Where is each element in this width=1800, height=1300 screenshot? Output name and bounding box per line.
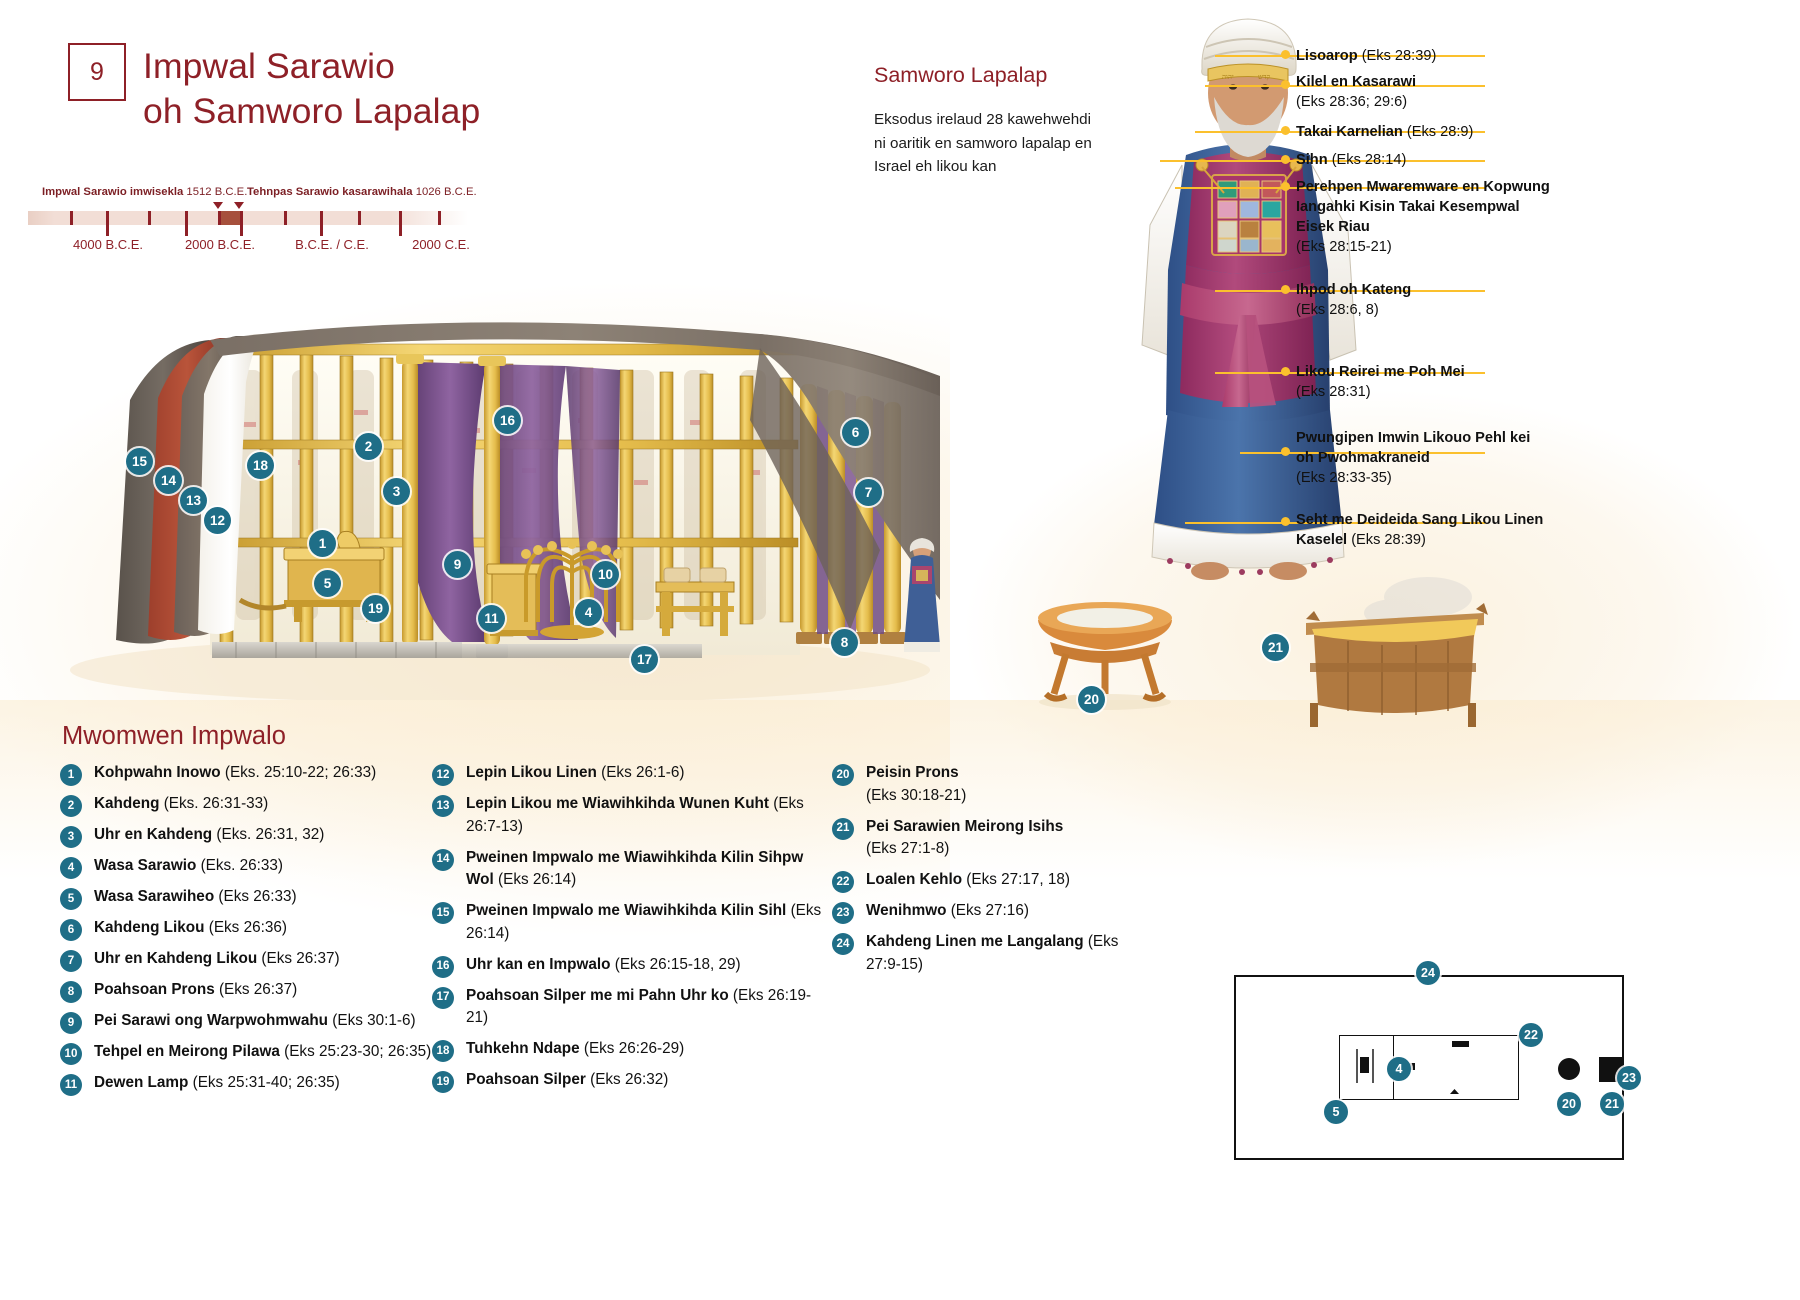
legend-badge: 8 bbox=[60, 981, 82, 1003]
legend-name: Uhr en Kahdeng bbox=[94, 826, 212, 843]
legend-badge: 17 bbox=[432, 987, 454, 1009]
legend-name: Wasa Sarawio bbox=[94, 857, 196, 874]
callout-name: Pwungipen Imwin Likouo Pehl kei oh Pwohm… bbox=[1296, 430, 1530, 466]
legend-badge: 22 bbox=[832, 871, 854, 893]
legend-badge: 3 bbox=[60, 826, 82, 848]
list-item: 1Kohpwahn Inowo (Eks. 25:10-22; 26:33) bbox=[60, 762, 450, 785]
legend-ref: (Eks 25:31-40; 26:35) bbox=[193, 1074, 340, 1091]
list-item: 20Peisin Prons(Eks 30:18-21) bbox=[832, 762, 1132, 807]
timeline-scale-label: 2000 C.E. bbox=[412, 237, 470, 252]
callout-dot bbox=[1281, 155, 1290, 164]
list-item: 12Lepin Likou Linen (Eks 26:1-6) bbox=[432, 762, 832, 785]
timeline-tick-major bbox=[399, 211, 402, 236]
list-item: 23Wenihmwo (Eks 27:16) bbox=[832, 900, 1132, 923]
list-item: 11Dewen Lamp (Eks 25:31-40; 26:35) bbox=[60, 1072, 450, 1095]
callout-name: Takai Karnelian bbox=[1296, 124, 1403, 140]
legend-name: Wenihmwo bbox=[866, 902, 946, 919]
timeline-event-2-year: 1026 B.C.E. bbox=[416, 186, 477, 198]
legend-ref: (Eks. 26:33) bbox=[201, 857, 283, 874]
timeline-scale-label: B.C.E. / C.E. bbox=[295, 237, 369, 252]
legend-name: Pei Sarawien Meirong Isihs bbox=[866, 818, 1063, 835]
marker-1[interactable]: 1 bbox=[309, 530, 336, 557]
legend-column-3: 20Peisin Prons(Eks 30:18-21) 21Pei Saraw… bbox=[832, 762, 1132, 985]
floor-plan-marker-20[interactable]: 20 bbox=[1557, 1092, 1581, 1116]
floor-plan-marker-4[interactable]: 4 bbox=[1387, 1057, 1411, 1081]
legend-badge: 24 bbox=[832, 933, 854, 955]
floor-plan-showbread-table-icon bbox=[1452, 1041, 1469, 1047]
list-item: 5Wasa Sarawiheo (Eks 26:33) bbox=[60, 886, 450, 909]
list-item: 18Tuhkehn Ndape (Eks 26:26-29) bbox=[432, 1038, 832, 1061]
svg-text:קדש: קדש bbox=[1258, 73, 1270, 81]
marker-7[interactable]: 7 bbox=[855, 479, 882, 506]
floor-plan-ark-pole-icon bbox=[1356, 1049, 1358, 1083]
legend-badge: 20 bbox=[832, 764, 854, 786]
legend-ref: (Eks. 26:31-33) bbox=[164, 795, 269, 812]
marker-2[interactable]: 2 bbox=[355, 433, 382, 460]
timeline-tick bbox=[284, 211, 287, 225]
legend-badge: 10 bbox=[60, 1043, 82, 1065]
callout-dot bbox=[1281, 517, 1290, 526]
timeline-tick bbox=[148, 211, 151, 225]
callout-name: Kilel en Kasarawi bbox=[1296, 74, 1416, 90]
list-item: 2Kahdeng (Eks. 26:31-33) bbox=[60, 793, 450, 816]
legend-ref: (Eks 27:1-8) bbox=[866, 840, 949, 857]
legend-ref: (Eks 26:33) bbox=[218, 888, 296, 905]
timeline-scale-label: 4000 B.C.E. bbox=[73, 237, 143, 252]
callout-seht-me-deideida: Seht me Deideida Sang Likou Linen Kasele… bbox=[1296, 510, 1546, 550]
legend-ref: (Eks 26:14) bbox=[498, 871, 576, 888]
floor-plan-marker-22[interactable]: 22 bbox=[1519, 1023, 1543, 1047]
callout-dot bbox=[1281, 126, 1290, 135]
timeline-marker-arrow-2-icon bbox=[234, 202, 244, 209]
legend-ref: (Eks 26:26-29) bbox=[584, 1040, 684, 1057]
marker-11[interactable]: 11 bbox=[478, 605, 505, 632]
timeline-tick-major bbox=[106, 211, 109, 236]
callout-ref: (Eks 28:39) bbox=[1362, 48, 1437, 64]
marker-19[interactable]: 19 bbox=[362, 595, 389, 622]
legend-name: Tehpel en Meirong Pilawa bbox=[94, 1043, 280, 1060]
timeline-tick bbox=[358, 211, 361, 225]
legend-badge: 19 bbox=[432, 1071, 454, 1093]
legend-badge: 2 bbox=[60, 795, 82, 817]
marker-10[interactable]: 10 bbox=[592, 561, 619, 588]
callout-ref: (Eks 28:33-35) bbox=[1296, 470, 1392, 486]
svg-text:יהוה: יהוה bbox=[1222, 73, 1234, 81]
legend-ref: (Eks 30:18-21) bbox=[866, 787, 966, 804]
legend-badge: 1 bbox=[60, 764, 82, 786]
timeline-marker-arrow-1-icon bbox=[213, 202, 223, 209]
legend-badge: 15 bbox=[432, 902, 454, 924]
legend-badge: 18 bbox=[432, 1040, 454, 1062]
legend-badge: 16 bbox=[432, 956, 454, 978]
callout-takai-karnelian: Takai Karnelian (Eks 28:9) bbox=[1296, 122, 1546, 142]
legend-name: Uhr en Kahdeng Likou bbox=[94, 950, 257, 967]
timeline-tick-major bbox=[240, 211, 243, 236]
legend-ref: (Eks 26:15-18, 29) bbox=[615, 956, 741, 973]
marker-8[interactable]: 8 bbox=[831, 629, 858, 656]
callout-lisoarop: Lisoarop (Eks 28:39) bbox=[1296, 46, 1546, 66]
marker-21[interactable]: 21 bbox=[1262, 634, 1289, 661]
copper-basin-illustration bbox=[1020, 590, 1190, 710]
list-item: 24Kahdeng Linen me Langalang (Eks 27:9-1… bbox=[832, 931, 1132, 976]
legend-badge: 12 bbox=[432, 764, 454, 786]
callout-dot bbox=[1281, 447, 1290, 456]
legend-ref: (Eks 26:37) bbox=[261, 950, 339, 967]
legend-badge: 11 bbox=[60, 1074, 82, 1096]
marker-15[interactable]: 15 bbox=[126, 448, 153, 475]
priest-panel-description: Eksodus irelaud 28 kawehwehdi ni oaritik… bbox=[874, 108, 1106, 179]
floor-plan-diagram: 24 22 23 4 5 20 21 bbox=[1234, 975, 1624, 1160]
list-item: 14Pweinen Impwalo me Wiawihkihda Kilin S… bbox=[432, 847, 832, 892]
timeline-tick bbox=[218, 211, 221, 225]
legend-ref: (Eks 25:23-30; 26:35) bbox=[284, 1043, 431, 1060]
legend-badge: 13 bbox=[432, 795, 454, 817]
marker-20[interactable]: 20 bbox=[1078, 686, 1105, 713]
floor-plan-marker-24[interactable]: 24 bbox=[1416, 961, 1440, 985]
legend-name: Pei Sarawi ong Warpwohmwahu bbox=[94, 1012, 328, 1029]
legend-name: Lepin Likou me Wiawihkihda Wunen Kuht bbox=[466, 795, 769, 812]
marker-14[interactable]: 14 bbox=[155, 467, 182, 494]
callout-ref: (Eks 28:15-21) bbox=[1296, 239, 1392, 255]
legend-ref: (Eks 26:36) bbox=[209, 919, 287, 936]
floor-plan-marker-5[interactable]: 5 bbox=[1324, 1100, 1348, 1124]
legend-name: Uhr kan en Impwalo bbox=[466, 956, 611, 973]
legend-name: Kohpwahn Inowo bbox=[94, 764, 221, 781]
list-item: 13Lepin Likou me Wiawihkihda Wunen Kuht … bbox=[432, 793, 832, 838]
callout-name: Likou Reirei me Poh Mei bbox=[1296, 364, 1465, 380]
marker-13[interactable]: 13 bbox=[180, 487, 207, 514]
timeline-highlight-band bbox=[218, 211, 240, 225]
floor-plan-basin-icon bbox=[1558, 1058, 1580, 1080]
callout-ref: (Eks 28:31) bbox=[1296, 384, 1371, 400]
page-canvas: 9 Impwal Sarawio oh Samworo Lapalap Impw… bbox=[0, 0, 1800, 1300]
list-item: 7Uhr en Kahdeng Likou (Eks 26:37) bbox=[60, 948, 450, 971]
legend-ref: (Eks 30:1-6) bbox=[332, 1012, 415, 1029]
marker-17[interactable]: 17 bbox=[631, 646, 658, 673]
page-title-line-1: Impwal Sarawio bbox=[143, 44, 783, 89]
callout-name: Perehpen Mwaremware en Kopwung Iangahki … bbox=[1296, 179, 1550, 235]
legend-badge: 21 bbox=[832, 818, 854, 840]
marker-6[interactable]: 6 bbox=[842, 419, 869, 446]
marker-3[interactable]: 3 bbox=[383, 478, 410, 505]
list-item: 3Uhr en Kahdeng (Eks. 26:31, 32) bbox=[60, 824, 450, 847]
legend-ref: (Eks 27:17, 18) bbox=[966, 871, 1070, 888]
timeline-bar bbox=[28, 211, 468, 225]
list-item: 17Poahsoan Silper me mi Pahn Uhr ko (Eks… bbox=[432, 985, 832, 1030]
legend-column-2: 12Lepin Likou Linen (Eks 26:1-6) 13Lepin… bbox=[432, 762, 832, 1100]
timeline-event-1-year: 1512 B.C.E. bbox=[186, 186, 247, 198]
page-title: Impwal Sarawio oh Samworo Lapalap bbox=[143, 44, 783, 134]
callout-sihn: Sihn (Eks 28:14) bbox=[1296, 150, 1546, 170]
legend-badge: 5 bbox=[60, 888, 82, 910]
list-item: 16Uhr kan en Impwalo (Eks 26:15-18, 29) bbox=[432, 954, 832, 977]
legend-badge: 4 bbox=[60, 857, 82, 879]
callout-name: Lisoarop bbox=[1296, 48, 1358, 64]
list-item: 19Poahsoan Silper (Eks 26:32) bbox=[432, 1069, 832, 1092]
floor-plan-marker-23[interactable]: 23 bbox=[1617, 1066, 1641, 1090]
legend-ref: (Eks 26:32) bbox=[590, 1071, 668, 1088]
list-item: 21Pei Sarawien Meirong Isihs(Eks 27:1-8) bbox=[832, 816, 1132, 861]
timeline-event-2: Tehnpas Sarawio kasarawihala 1026 B.C.E. bbox=[247, 186, 477, 198]
callout-dot bbox=[1281, 80, 1290, 89]
floor-plan-marker-21[interactable]: 21 bbox=[1600, 1092, 1624, 1116]
callout-name: Sihn bbox=[1296, 152, 1328, 168]
callout-ref: (Eks 28:14) bbox=[1332, 152, 1407, 168]
timeline: Impwal Sarawio imwisekla 1512 B.C.E. Teh… bbox=[28, 186, 468, 256]
list-item: 6Kahdeng Likou (Eks 26:36) bbox=[60, 917, 450, 940]
marker-4[interactable]: 4 bbox=[575, 599, 602, 626]
callout-kilel-en-kasarawi: Kilel en Kasarawi (Eks 28:36; 29:6) bbox=[1296, 72, 1546, 112]
timeline-tick bbox=[70, 211, 73, 225]
callout-dot bbox=[1281, 285, 1290, 294]
timeline-event-2-label: Tehnpas Sarawio kasarawihala bbox=[247, 186, 413, 198]
callout-dot bbox=[1281, 367, 1290, 376]
priest-panel-heading: Samworo Lapalap bbox=[874, 63, 1114, 88]
list-item: 15Pweinen Impwalo me Wiawihkihda Kilin S… bbox=[432, 900, 832, 945]
legend-column-1: 1Kohpwahn Inowo (Eks. 25:10-22; 26:33) 2… bbox=[60, 762, 450, 1103]
list-item: 4Wasa Sarawio (Eks. 26:33) bbox=[60, 855, 450, 878]
legend-name: Dewen Lamp bbox=[94, 1074, 188, 1091]
legend-name: Peisin Prons bbox=[866, 764, 959, 781]
page-title-line-2: oh Samworo Lapalap bbox=[143, 89, 783, 134]
legend-badge: 7 bbox=[60, 950, 82, 972]
marker-5[interactable]: 5 bbox=[314, 570, 341, 597]
legend-name: Lepin Likou Linen bbox=[466, 764, 597, 781]
legend-ref: (Eks 26:1-6) bbox=[601, 764, 684, 781]
timeline-event-1-label: Impwal Sarawio imwisekla bbox=[42, 186, 183, 198]
legend-badge: 14 bbox=[432, 849, 454, 871]
chapter-number: 9 bbox=[68, 43, 126, 101]
legend-name: Loalen Kehlo bbox=[866, 871, 962, 888]
list-item: 10Tehpel en Meirong Pilawa (Eks 25:23-30… bbox=[60, 1041, 450, 1064]
callout-pwungipen-imwin: Pwungipen Imwin Likouo Pehl kei oh Pwohm… bbox=[1296, 428, 1552, 488]
callout-ref: (Eks 28:6, 8) bbox=[1296, 302, 1379, 318]
marker-12[interactable]: 12 bbox=[204, 507, 231, 534]
callout-ref: (Eks 28:36; 29:6) bbox=[1296, 94, 1407, 110]
timeline-tick-major bbox=[320, 211, 323, 236]
legend-name: Wasa Sarawiheo bbox=[94, 888, 214, 905]
list-item: 9Pei Sarawi ong Warpwohmwahu (Eks 30:1-6… bbox=[60, 1010, 450, 1033]
timeline-tick-major bbox=[185, 211, 188, 236]
floor-plan-ark-pole-icon bbox=[1372, 1049, 1374, 1083]
callout-name: Ihpod oh Kateng bbox=[1296, 282, 1411, 298]
marker-18[interactable]: 18 bbox=[247, 452, 274, 479]
callout-ref: (Eks 28:9) bbox=[1407, 124, 1474, 140]
legend-name: Poahsoan Prons bbox=[94, 981, 215, 998]
legend-name: Poahsoan Silper me mi Pahn Uhr ko bbox=[466, 987, 729, 1004]
legend-name: Kahdeng Likou bbox=[94, 919, 204, 936]
marker-16[interactable]: 16 bbox=[494, 407, 521, 434]
timeline-event-1: Impwal Sarawio imwisekla 1512 B.C.E. bbox=[42, 186, 247, 198]
legend-badge: 6 bbox=[60, 919, 82, 941]
floor-plan-ark-icon bbox=[1360, 1057, 1369, 1073]
callout-dot bbox=[1281, 182, 1290, 191]
callout-perehpen-mwaremware: Perehpen Mwaremware en Kopwung Iangahki … bbox=[1296, 177, 1552, 257]
callout-ref: (Eks 28:39) bbox=[1351, 532, 1426, 548]
legend-ref: (Eks. 26:31, 32) bbox=[216, 826, 324, 843]
callout-dot bbox=[1281, 50, 1290, 59]
callout-ihpod-oh-kateng: Ihpod oh Kateng (Eks 28:6, 8) bbox=[1296, 280, 1546, 320]
legend-badge: 23 bbox=[832, 902, 854, 924]
timeline-scale-label: 2000 B.C.E. bbox=[185, 237, 255, 252]
legend-title: Mwomwen Impwalo bbox=[62, 722, 286, 751]
altar-of-burnt-offering-illustration bbox=[1278, 575, 1508, 735]
legend-name: Kahdeng Linen me Langalang bbox=[866, 933, 1084, 950]
marker-9[interactable]: 9 bbox=[444, 551, 471, 578]
legend-name: Poahsoan Silper bbox=[466, 1071, 586, 1088]
legend-ref: (Eks 26:37) bbox=[219, 981, 297, 998]
list-item: 8Poahsoan Prons (Eks 26:37) bbox=[60, 979, 450, 1002]
legend-ref: (Eks 27:16) bbox=[951, 902, 1029, 919]
timeline-tick bbox=[438, 211, 441, 225]
legend-name: Pweinen Impwalo me Wiawihkihda Kilin Sih… bbox=[466, 902, 786, 919]
list-item: 22Loalen Kehlo (Eks 27:17, 18) bbox=[832, 869, 1132, 892]
legend-name: Kahdeng bbox=[94, 795, 159, 812]
callout-likou-reirei: Likou Reirei me Poh Mei (Eks 28:31) bbox=[1296, 362, 1546, 402]
legend-name: Tuhkehn Ndape bbox=[466, 1040, 580, 1057]
legend-ref: (Eks. 25:10-22; 26:33) bbox=[225, 764, 376, 781]
legend-badge: 9 bbox=[60, 1012, 82, 1034]
